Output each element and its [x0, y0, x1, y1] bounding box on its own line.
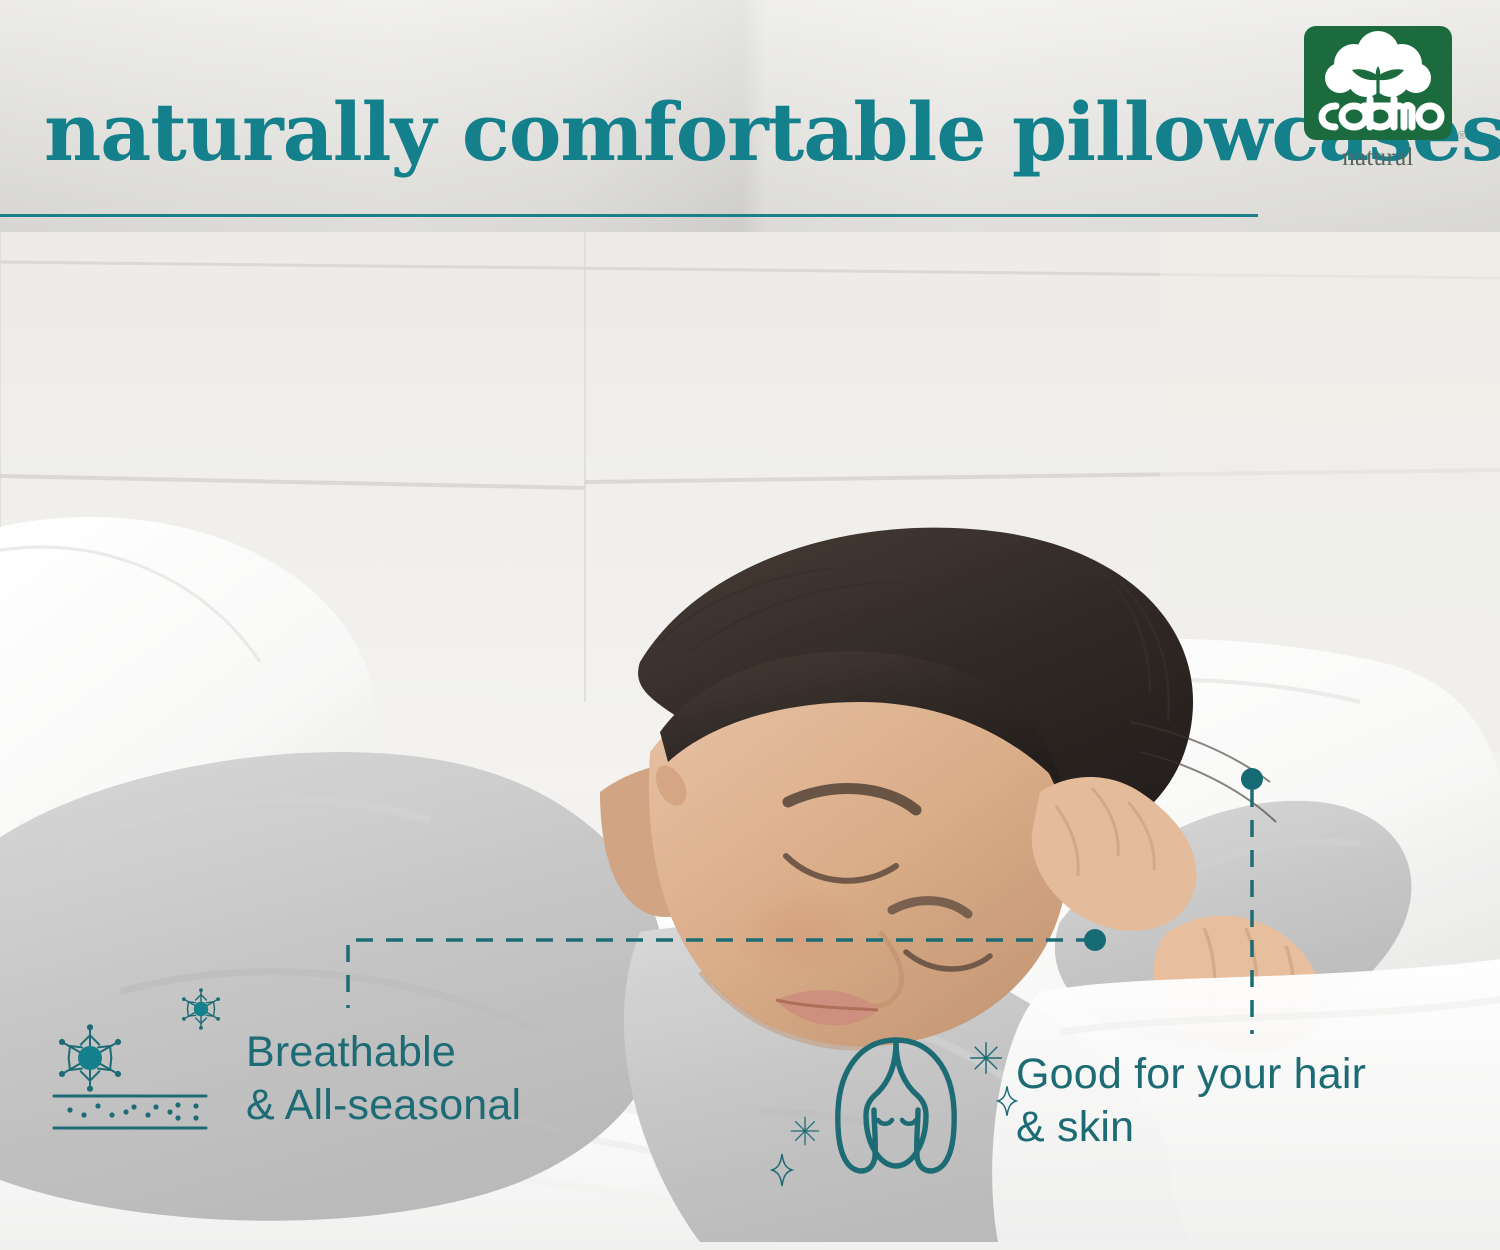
page-title: naturally comfortable pillowcases — [44, 92, 1500, 172]
callout-hair-and-skin: Good for your hair & skin — [768, 1026, 1366, 1226]
airflow-fabric-icon — [50, 1088, 210, 1134]
sparkle-diamond-right-icon — [996, 1084, 1018, 1118]
marketing-infographic: naturally comfortable pillowcases — [0, 0, 1500, 1250]
sparkle-star-icon — [788, 1114, 822, 1148]
hair-icon-group — [768, 1026, 1016, 1226]
breathable-icon-group — [46, 980, 236, 1130]
callout-breathable: Breathable & All-seasonal — [46, 980, 521, 1133]
woman-face-icon — [826, 1032, 966, 1180]
snowflake-small-icon — [174, 982, 228, 1036]
logo-caption: natural — [1304, 144, 1452, 172]
callout-breathable-label: Breathable & All-seasonal — [246, 1026, 521, 1133]
cotton-logo: ® natural — [1304, 26, 1452, 172]
snowflake-icon — [50, 1018, 130, 1098]
sparkle-diamond-icon — [770, 1152, 794, 1188]
logo-badge: ® — [1304, 26, 1452, 140]
cotton-boll-icon — [1304, 26, 1452, 140]
callout-hair-label: Good for your hair & skin — [1016, 1048, 1366, 1155]
registered-mark-icon: ® — [1458, 130, 1466, 142]
header-divider — [0, 214, 1258, 217]
sparkle-star-right-icon — [968, 1040, 1004, 1076]
